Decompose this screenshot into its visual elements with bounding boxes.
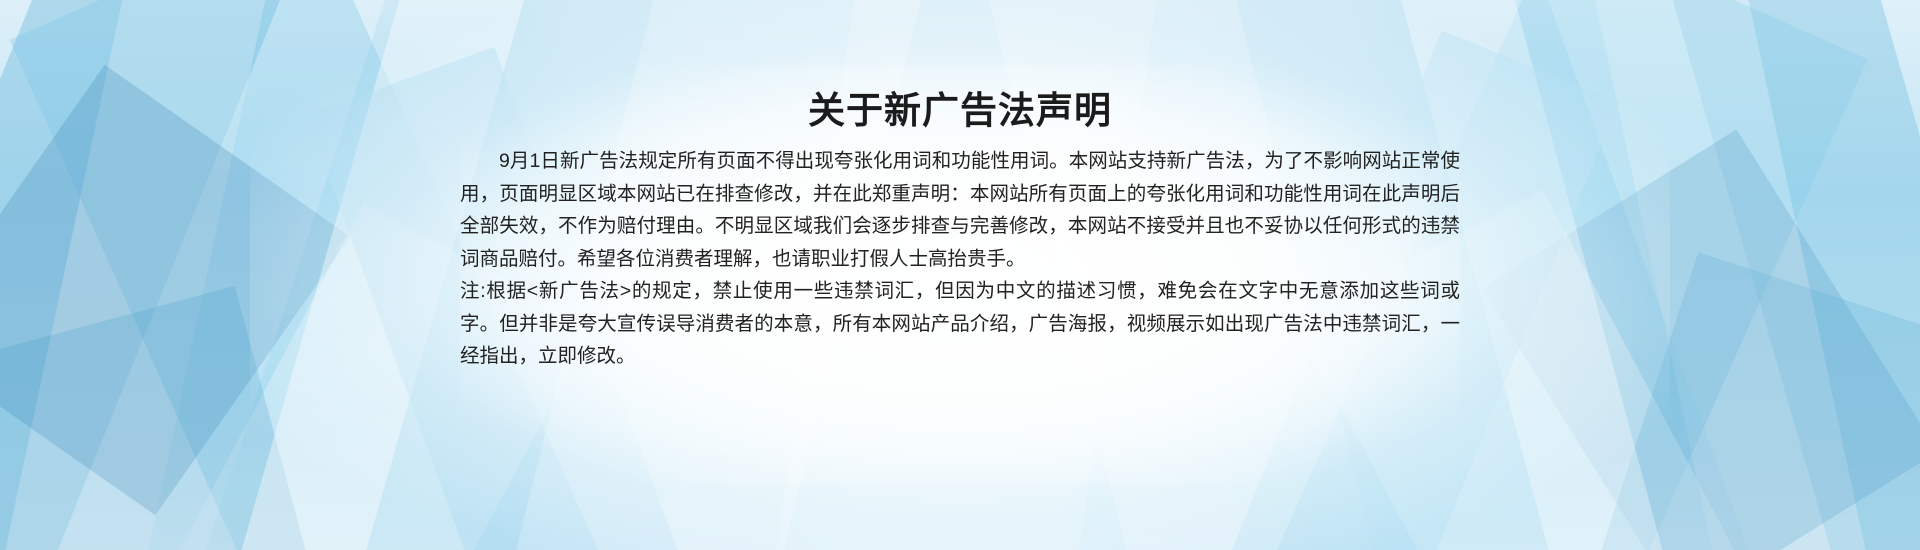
advertising-law-statement-banner: 关于新广告法声明 9月1日新广告法规定所有页面不得出现夸张化用词和功能性用词。本… [0,0,1920,550]
statement-paragraph-main: 9月1日新广告法规定所有页面不得出现夸张化用词和功能性用词。本网站支持新广告法，… [460,145,1460,275]
statement-paragraph-note: 注:根据<新广告法>的规定，禁止使用一些违禁词汇，但因为中文的描述习惯，难免会在… [460,275,1460,373]
page-title: 关于新广告法声明 [460,88,1460,134]
statement-content: 关于新广告法声明 9月1日新广告法规定所有页面不得出现夸张化用词和功能性用词。本… [460,0,1460,550]
statement-body: 9月1日新广告法规定所有页面不得出现夸张化用词和功能性用词。本网站支持新广告法，… [460,145,1460,373]
